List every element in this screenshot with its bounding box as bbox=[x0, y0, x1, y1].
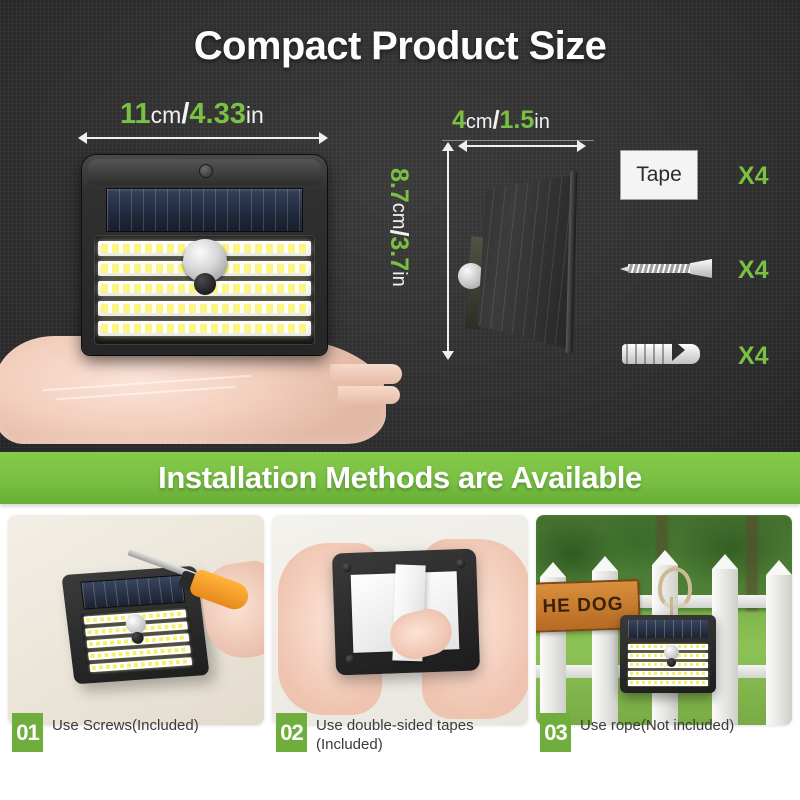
width-arrow bbox=[78, 132, 328, 144]
product-side-view bbox=[462, 175, 572, 350]
fence-picket bbox=[766, 575, 792, 725]
method-caption: Use rope(Not included) bbox=[580, 717, 792, 736]
tape-quantity: X4 bbox=[738, 162, 769, 191]
solar-panel bbox=[80, 575, 185, 610]
method-image-rope: HE DOG bbox=[536, 515, 792, 725]
method-caption: Use double-sided tapes (Included) bbox=[316, 717, 528, 755]
top-screw-icon bbox=[199, 164, 213, 178]
anchor-notch bbox=[672, 339, 685, 361]
solar-panel bbox=[628, 620, 708, 638]
motion-sensor-lens-icon bbox=[194, 273, 216, 295]
depth-guide-line bbox=[442, 140, 594, 141]
installation-banner: Installation Methods are Available bbox=[0, 452, 800, 504]
mounting-hole bbox=[345, 655, 354, 664]
sign-text: HE DOG bbox=[542, 594, 624, 619]
motion-sensor-lens-icon bbox=[667, 658, 676, 667]
arrow-bar bbox=[447, 148, 449, 354]
rope-loop bbox=[658, 567, 692, 609]
height-in-unit: in bbox=[388, 271, 410, 287]
method-image-tape bbox=[272, 515, 528, 725]
installation-methods-list: 01 Use Screws(Included) bbox=[0, 515, 800, 800]
width-in-unit: in bbox=[246, 102, 264, 128]
product-front-view bbox=[82, 155, 327, 355]
method-card-01: 01 Use Screws(Included) bbox=[8, 515, 264, 725]
method-number-badge: 01 bbox=[12, 713, 43, 752]
screw-icon bbox=[620, 258, 720, 278]
anchor-quantity: X4 bbox=[738, 342, 769, 371]
height-dimension-label: 8.7cm/3.7in bbox=[386, 168, 411, 287]
garden-background: HE DOG bbox=[536, 515, 792, 725]
product-hanging bbox=[620, 615, 716, 693]
anchor-body bbox=[622, 344, 700, 364]
banner-title: Installation Methods are Available bbox=[158, 460, 642, 496]
width-in-value: 4.33 bbox=[189, 98, 245, 130]
led-strip bbox=[89, 657, 192, 672]
height-cm-value: 8.7 bbox=[385, 168, 413, 203]
depth-in-unit: in bbox=[534, 111, 550, 133]
method-image-screws bbox=[8, 515, 264, 725]
arrow-tip-right bbox=[577, 140, 586, 152]
depth-arrow bbox=[458, 140, 586, 152]
depth-separator: / bbox=[493, 106, 500, 134]
arrow-tip-right bbox=[319, 132, 328, 144]
product-infographic: Compact Product Size 11cm/4.33in 4cm/1.5… bbox=[0, 0, 800, 800]
studio-background bbox=[272, 515, 528, 725]
wall-background bbox=[8, 515, 264, 725]
method-card-03: HE DOG bbox=[536, 515, 792, 725]
height-cm-unit: cm bbox=[388, 203, 410, 230]
depth-in-value: 1.5 bbox=[500, 106, 535, 134]
width-dimension-label: 11cm/4.33in bbox=[120, 100, 264, 129]
screw-head bbox=[690, 259, 712, 278]
depth-dimension-label: 4cm/1.5in bbox=[452, 108, 550, 133]
led-strip bbox=[98, 321, 311, 336]
arrow-bar bbox=[84, 137, 322, 139]
mounting-hole bbox=[342, 563, 351, 572]
compact-size-section: Compact Product Size 11cm/4.33in 4cm/1.5… bbox=[0, 0, 800, 452]
arrow-bar bbox=[464, 145, 580, 147]
width-cm-value: 11 bbox=[120, 98, 151, 130]
method-number-badge: 02 bbox=[276, 713, 307, 752]
tape-icon: Tape bbox=[620, 150, 698, 200]
method-card-02: 02 Use double-sided tapes (Included) bbox=[272, 515, 528, 725]
depth-cm-unit: cm bbox=[466, 111, 493, 133]
led-strip bbox=[628, 680, 708, 686]
height-arrow bbox=[442, 142, 454, 360]
mounting-hole bbox=[456, 559, 465, 568]
method-caption: Use Screws(Included) bbox=[52, 717, 264, 736]
solar-panel bbox=[106, 188, 303, 232]
wall-anchor-icon bbox=[620, 340, 720, 368]
page-title: Compact Product Size bbox=[0, 24, 800, 69]
method-number-badge: 03 bbox=[540, 713, 571, 752]
arrow-tip-bottom bbox=[442, 351, 454, 360]
finger bbox=[330, 364, 402, 384]
width-cm-unit: cm bbox=[151, 102, 182, 128]
led-strip bbox=[628, 671, 708, 677]
screw-shaft bbox=[628, 264, 694, 273]
height-in-value: 3.7 bbox=[385, 236, 413, 271]
finger bbox=[338, 386, 400, 404]
led-strip bbox=[98, 301, 311, 316]
depth-cm-value: 4 bbox=[452, 106, 466, 134]
screw-quantity: X4 bbox=[738, 256, 769, 285]
